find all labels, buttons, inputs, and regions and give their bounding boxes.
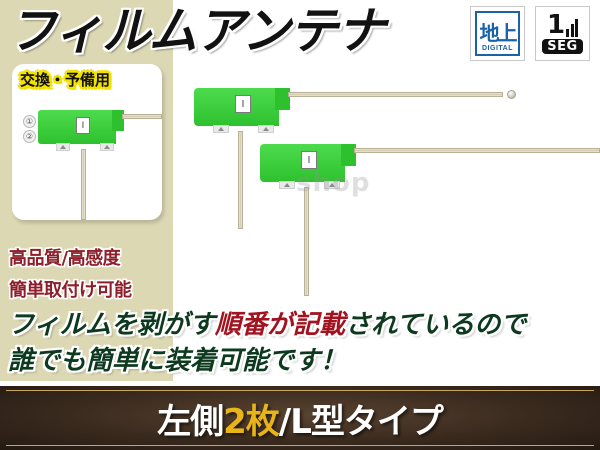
antenna-lower-wire-horizontal [354, 148, 600, 153]
inset-antenna-foot-left [56, 143, 70, 151]
promo-line1-highlight: 順番が記載 [215, 310, 345, 340]
bottom-banner: 左側2枚/L型タイプ [0, 386, 600, 450]
banner-text: 左側2枚/L型タイプ [157, 394, 443, 443]
antenna-upper-chip: I [235, 95, 251, 113]
antenna-lower-wire-vertical [304, 187, 309, 296]
inset-antenna-wire-horizontal [122, 114, 162, 119]
oneseg-word: SEG [542, 39, 582, 54]
oneseg-signal-icon: 1 [547, 13, 578, 37]
antenna-lower: I [250, 136, 600, 296]
inset-antenna-illustration: ① ② I [12, 64, 162, 220]
promo-line1-post: されているので [345, 310, 526, 340]
product-image-canvas: フィルムアンテナ 地上 DIGITAL 1 SEG 交換・予備用 ① ② I [0, 0, 600, 450]
antenna-lower-chip: I [301, 151, 317, 169]
promo-line-1: フィルムを剥がす順番が記載されているので [8, 308, 526, 342]
antenna-upper-connector [507, 90, 516, 99]
digital-badge-mark: 地上 [480, 22, 516, 44]
feature-text-installation: 簡単取付け可能 [9, 276, 132, 302]
antenna-upper-wire-vertical [238, 131, 243, 229]
antenna-upper-foot-right [258, 125, 274, 133]
inset-antenna-chip: I [76, 117, 90, 134]
inset-photo-card: 交換・予備用 ① ② I [12, 64, 162, 220]
oneseg-number: 1 [547, 13, 565, 37]
oneseg-badge: 1 SEG [535, 6, 590, 61]
banner-post: /L型タイプ [279, 402, 443, 442]
promo-line-2: 誰でも簡単に装着可能です！ [8, 344, 346, 378]
digital-badge-word: DIGITAL [482, 45, 513, 53]
antenna-upper-wire-horizontal [288, 92, 503, 97]
antenna-lower-foot-right [324, 181, 340, 189]
inset-antenna-wire-vertical [81, 149, 86, 220]
promo-line1-pre: フィルムを剥がす [8, 310, 215, 340]
banner-quantity: 2枚 [223, 402, 279, 442]
antenna-upper-foot-left [213, 125, 229, 133]
page-title: フィルムアンテナ [8, 2, 425, 60]
signal-bars-icon [566, 19, 578, 37]
inset-marker-1: ① [23, 115, 36, 128]
digital-badge-frame: 地上 DIGITAL [475, 11, 520, 56]
inset-marker-2: ② [23, 130, 36, 143]
certification-badge-row: 地上 DIGITAL 1 SEG [470, 6, 590, 61]
banner-pre: 左側 [157, 402, 223, 442]
feature-text-quality: 高品質/高感度 [9, 244, 120, 270]
digital-badge: 地上 DIGITAL [470, 6, 525, 61]
inset-antenna-foot-right [100, 143, 114, 151]
antenna-lower-foot-left [279, 181, 295, 189]
